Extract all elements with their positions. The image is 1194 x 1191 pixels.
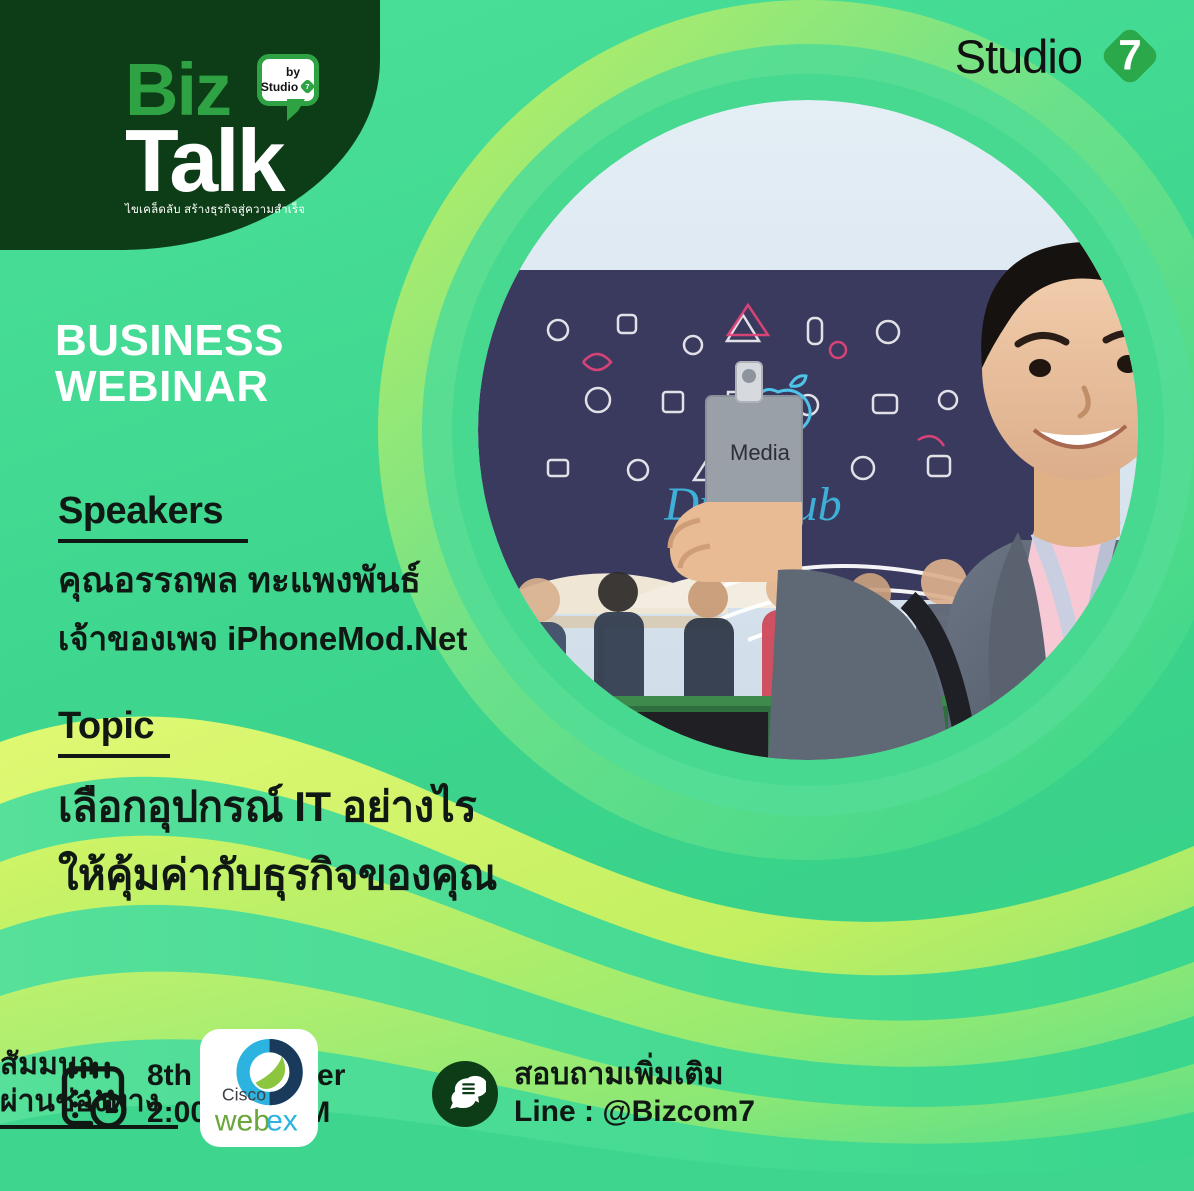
bubble-by-label: by (286, 66, 300, 78)
bubble-studio-label: Studio (261, 81, 298, 93)
speakers-heading: Speakers (58, 490, 467, 533)
svg-text:7: 7 (1118, 32, 1141, 79)
webex-ex-text: ex (266, 1104, 298, 1137)
speaker-role: เจ้าของเพจ iPhoneMod.Net (58, 612, 467, 665)
seven-diamond-icon-small: 7 (300, 79, 315, 94)
seven-diamond-icon: 7 (1096, 22, 1164, 90)
contact-text: สอบถามเพิ่มเติม Line : @Bizcom7 (514, 1057, 755, 1130)
headline-line-2: WEBINAR (55, 364, 284, 410)
bizz-talk-logo: Biz Talk ไขเคล็ดลับ สร้างธุรกิจสู่ความสำ… (125, 60, 375, 219)
logo-talk-text: Talk (125, 123, 375, 199)
cisco-wordmark: Cisco (222, 1084, 266, 1104)
speakers-divider (58, 539, 248, 543)
chat-bubbles-icon (432, 1061, 498, 1127)
topic-line-2: ให้คุ้มค่ากับธุรกิจของคุณ (58, 842, 497, 908)
speaker-photo: Dub Dub (478, 100, 1138, 760)
badge-text: Media (730, 440, 791, 465)
headline-line-1: BUSINESS (55, 318, 284, 364)
topic-section: Topic เลือกอุปกรณ์ IT อย่างไร ให้คุ้มค่า… (58, 705, 497, 908)
svg-text:7: 7 (306, 82, 310, 91)
studio7-wordmark: Studio (955, 29, 1082, 84)
contact-label: สอบถามเพิ่มเติม (514, 1057, 755, 1094)
page-title: BUSINESS WEBINAR (55, 318, 284, 410)
footer-bar: 8th December 2:00-3:00 PM สอบถามเพิ่มเติ… (0, 1029, 1194, 1169)
topic-line-1: เลือกอุปกรณ์ IT อย่างไร (58, 774, 497, 840)
poster-canvas: Biz Talk ไขเคล็ดลับ สร้างธุรกิจสู่ความสำ… (0, 0, 1194, 1191)
speaker-name: คุณอรรถพล ทะแพงพันธ์ (58, 553, 467, 608)
topic-heading: Topic (58, 705, 497, 748)
speakers-section: Speakers คุณอรรถพล ทะแพงพันธ์ เจ้าของเพจ… (58, 490, 467, 665)
calendar-clock-icon (55, 1057, 131, 1133)
contact-line-id: Line : @Bizcom7 (514, 1094, 755, 1131)
topic-divider (58, 754, 170, 758)
logo-tagline: ไขเคล็ดลับ สร้างธุรกิจสู่ความสำเร็จ (125, 201, 375, 219)
contact-info[interactable]: สอบถามเพิ่มเติม Line : @Bizcom7 (432, 1057, 755, 1130)
cisco-webex-logo: Cisco web ex (200, 1029, 318, 1147)
webex-web-text: web (214, 1104, 270, 1137)
speech-bubble-icon: by Studio 7 (257, 54, 319, 106)
speaker-photo-illustration: Dub Dub (478, 100, 1138, 760)
studio7-logo: Studio 7 (955, 22, 1164, 90)
